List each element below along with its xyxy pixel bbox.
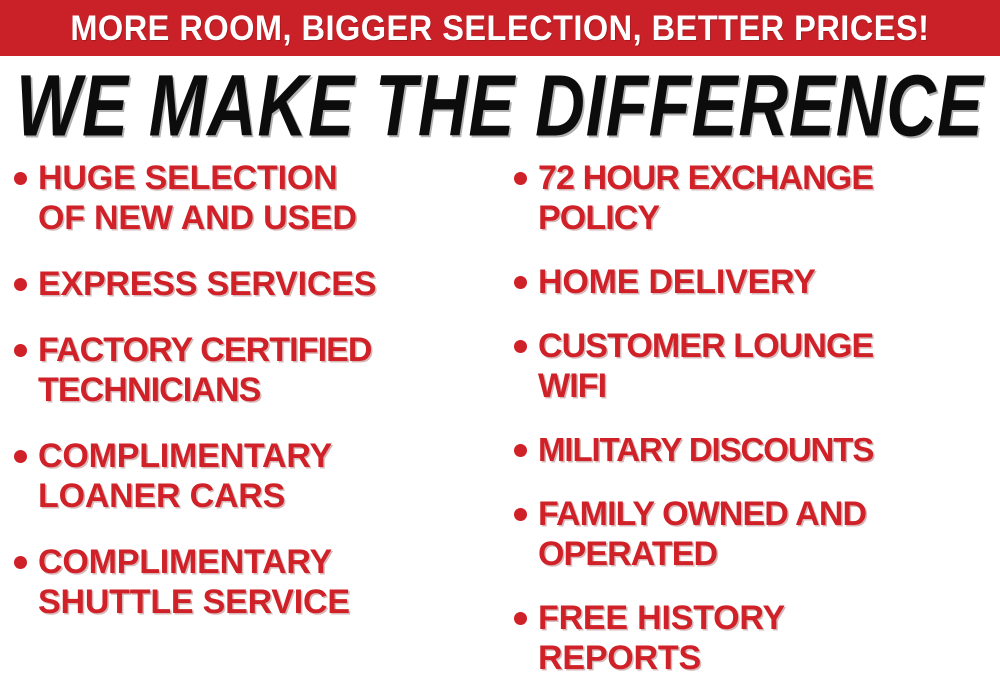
list-item: COMPLIMENTARY LOANER CARS <box>14 436 500 516</box>
page-title: WE MAKE THE DIFFERENCE <box>16 64 984 151</box>
list-item-label: 72 HOUR EXCHANGE POLICY <box>538 158 873 238</box>
top-banner: MORE ROOM, BIGGER SELECTION, BETTER PRIC… <box>0 0 1000 56</box>
list-item: FAMILY OWNED AND OPERATED <box>514 494 1000 574</box>
list-item: 72 HOUR EXCHANGE POLICY <box>514 158 1000 238</box>
benefits-column-right: 72 HOUR EXCHANGE POLICY HOME DELIVERY CU… <box>514 158 1000 694</box>
bullet-dot-icon <box>514 340 527 353</box>
list-item-label: FREE HISTORY REPORTS <box>538 598 785 678</box>
list-item-label: HUGE SELECTION OF NEW AND USED <box>38 158 357 238</box>
list-item: FREE HISTORY REPORTS <box>514 598 1000 678</box>
list-item-label: HOME DELIVERY <box>538 262 816 302</box>
bullet-dot-icon <box>514 276 527 289</box>
bullet-dot-icon <box>14 450 27 463</box>
bullet-dot-icon <box>514 444 527 457</box>
bullet-dot-icon <box>514 612 527 625</box>
list-item-label: MILITARY DISCOUNTS <box>538 430 873 470</box>
benefits-column-left: HUGE SELECTION OF NEW AND USED EXPRESS S… <box>14 158 500 694</box>
list-item-label: FACTORY CERTIFIED TECHNICIANS <box>38 330 372 410</box>
benefits-columns: HUGE SELECTION OF NEW AND USED EXPRESS S… <box>0 158 1000 694</box>
list-item: MILITARY DISCOUNTS <box>514 430 1000 470</box>
list-item-label: FAMILY OWNED AND OPERATED <box>538 494 866 574</box>
bullet-dot-icon <box>14 344 27 357</box>
bullet-dot-icon <box>514 172 527 185</box>
dealership-benefits-poster: MORE ROOM, BIGGER SELECTION, BETTER PRIC… <box>0 0 1000 694</box>
list-item: HOME DELIVERY <box>514 262 1000 302</box>
list-item-label: COMPLIMENTARY LOANER CARS <box>38 436 332 516</box>
list-item-label: COMPLIMENTARY SHUTTLE SERVICE <box>38 542 350 622</box>
headline-container: WE MAKE THE DIFFERENCE <box>0 60 1000 154</box>
list-item: COMPLIMENTARY SHUTTLE SERVICE <box>14 542 500 622</box>
list-item-label: CUSTOMER LOUNGE WIFI <box>538 326 873 406</box>
list-item: CUSTOMER LOUNGE WIFI <box>514 326 1000 406</box>
bullet-dot-icon <box>14 172 27 185</box>
list-item: EXPRESS SERVICES <box>14 264 500 304</box>
bullet-dot-icon <box>14 278 27 291</box>
bullet-dot-icon <box>14 556 27 569</box>
bullet-dot-icon <box>514 508 527 521</box>
list-item-label: EXPRESS SERVICES <box>38 264 376 304</box>
list-item: FACTORY CERTIFIED TECHNICIANS <box>14 330 500 410</box>
list-item: HUGE SELECTION OF NEW AND USED <box>14 158 500 238</box>
banner-headline-text: MORE ROOM, BIGGER SELECTION, BETTER PRIC… <box>70 11 929 46</box>
